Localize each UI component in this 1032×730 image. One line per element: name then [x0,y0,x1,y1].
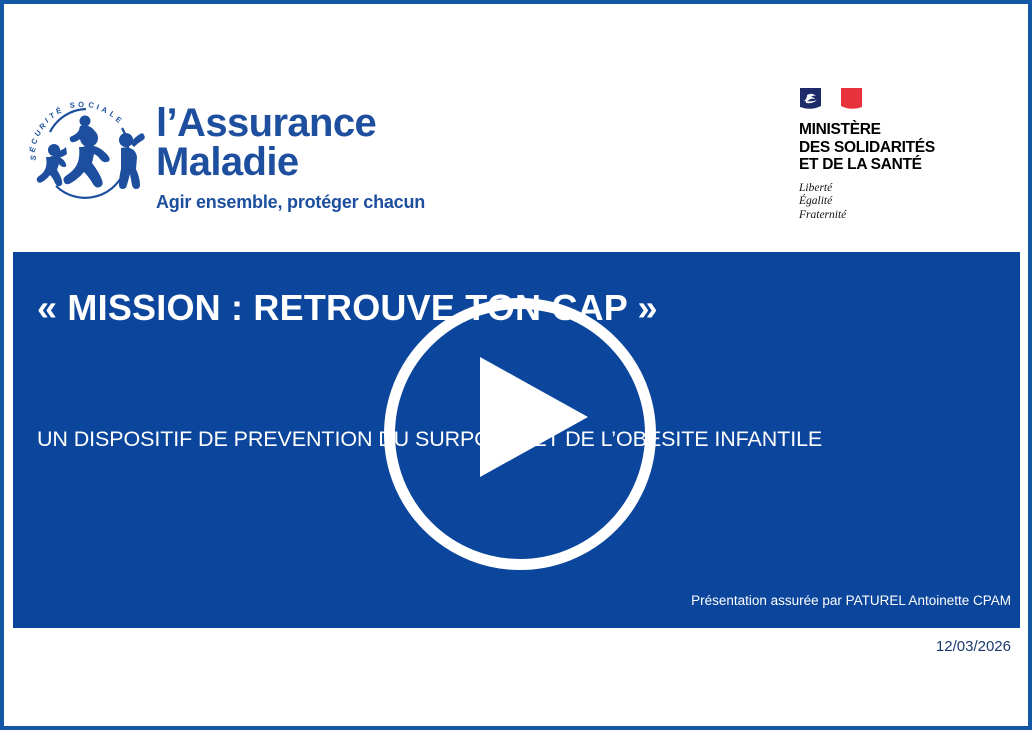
svg-text:É: É [55,106,62,116]
svg-text:I: I [43,116,49,125]
ministry-title-line3: ET DE LA SANTÉ [799,156,979,174]
svg-text:É: É [28,146,38,154]
video-player-frame[interactable]: S É C U R I T É S O C I A L E [0,0,1032,730]
ministry-title: MINISTÈRE DES SOLIDARITÉS ET DE LA SANTÉ [799,121,979,174]
svg-text:E: E [114,115,124,125]
play-triangle-icon [480,357,588,477]
slide-date: 12/03/2026 [936,638,1011,655]
assurance-tagline: Agir ensemble, protéger chacun [156,192,426,213]
svg-text:A: A [100,105,109,116]
play-button[interactable] [380,294,660,574]
slide-presenter-credit: Présentation assurée par PATUREL Antoine… [691,593,1011,608]
svg-text:C: C [88,100,96,110]
ministry-title-line2: DES SOLIDARITÉS [799,139,979,157]
securite-sociale-emblem-icon: S É C U R I T É S O C I A L E [26,88,150,212]
ministry-title-line1: MINISTÈRE [799,121,979,139]
slide-header-band: S É C U R I T É S O C I A L E [4,4,1028,252]
assurance-maladie-logo: S É C U R I T É S O C I A L E [26,88,426,220]
assurance-maladie-wordmark: l’Assurance Maladie Agir ensemble, proté… [156,104,426,213]
motto-liberte: Liberté [799,182,979,196]
svg-text:S: S [28,154,38,161]
assurance-name-line2: Maladie [156,143,426,182]
assurance-name-line1: l’Assurance [156,104,426,143]
svg-text:I: I [95,102,100,111]
svg-text:O: O [78,100,84,109]
french-flag-marianne-icon [799,86,863,112]
motto-egalite: Égalité [799,195,979,209]
republic-motto: Liberté Égalité Fraternité [799,182,979,223]
svg-text:S: S [69,101,75,110]
svg-text:T: T [48,111,56,121]
ministere-solidarites-sante-logo: MINISTÈRE DES SOLIDARITÉS ET DE LA SANTÉ… [799,86,979,220]
motto-fraternite: Fraternité [799,209,979,223]
